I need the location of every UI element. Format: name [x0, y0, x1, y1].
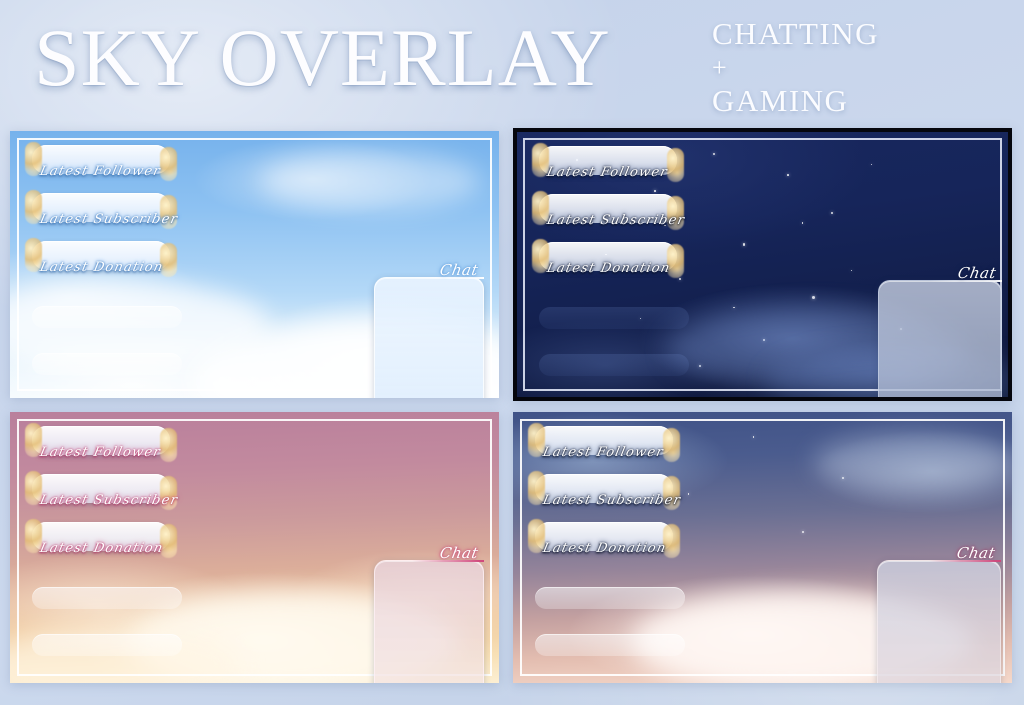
alert-bar-donation[interactable]: Latest Donation: [535, 522, 673, 551]
chat-panel[interactable]: Chat: [877, 560, 1001, 683]
alert-bar-group: Latest Follower Latest Subscriber Latest…: [539, 146, 677, 290]
header: SKY OVERLAY CHATTING + GAMING: [0, 0, 1024, 128]
alert-bar-subscriber[interactable]: Latest Subscriber: [32, 193, 170, 222]
alert-bar-donation[interactable]: Latest Donation: [32, 241, 170, 270]
alert-bar-label: Latest Follower: [38, 164, 191, 179]
chat-panel[interactable]: Chat: [878, 280, 1002, 401]
alert-bar-label: Latest Subscriber: [38, 212, 191, 227]
subtitle-gaming: GAMING: [712, 83, 848, 118]
alert-bar-label: Latest Donation: [38, 260, 191, 275]
alert-bar-subscriber[interactable]: Latest Subscriber: [535, 474, 673, 503]
ghost-frame-bar[interactable]: [32, 306, 182, 328]
alert-bar-donation[interactable]: Latest Donation: [32, 522, 170, 551]
alert-bar-donation[interactable]: Latest Donation: [539, 242, 677, 271]
alert-bar-follower[interactable]: Latest Follower: [32, 145, 170, 174]
ghost-frame-bar[interactable]: [539, 307, 689, 329]
chat-box[interactable]: [877, 560, 1001, 683]
chat-panel[interactable]: Chat: [374, 560, 484, 683]
chat-box[interactable]: [878, 280, 1002, 401]
subtitle-chatting: CHATTING: [712, 16, 879, 51]
overlay-panel-dusk-sky[interactable]: Latest Follower Latest Subscriber Latest…: [513, 412, 1012, 683]
chat-label: Chat: [955, 544, 996, 562]
page-title: SKY OVERLAY: [34, 12, 611, 104]
ghost-frame-bar[interactable]: [539, 354, 689, 376]
ghost-frame-bar[interactable]: [32, 587, 182, 609]
chat-label: Chat: [956, 264, 997, 282]
chat-label: Chat: [438, 261, 479, 279]
chat-box[interactable]: [374, 277, 484, 398]
chat-label: Chat: [438, 544, 479, 562]
alert-bar-subscriber[interactable]: Latest Subscriber: [32, 474, 170, 503]
chat-box[interactable]: [374, 560, 484, 683]
alert-bar-follower[interactable]: Latest Follower: [539, 146, 677, 175]
ghost-frame-bar[interactable]: [32, 353, 182, 375]
alert-bar-group: Latest Follower Latest Subscriber Latest…: [32, 426, 170, 570]
overlay-panel-night-sky[interactable]: Latest Follower Latest Subscriber Latest…: [513, 128, 1012, 401]
overlay-panel-day-sky[interactable]: Latest Follower Latest Subscriber Latest…: [10, 131, 499, 398]
alert-bar-label: Latest Subscriber: [38, 493, 191, 508]
alert-bar-label: Latest Follower: [541, 445, 694, 460]
page-subtitle: CHATTING + GAMING: [712, 16, 922, 119]
ghost-frame-bar[interactable]: [535, 587, 685, 609]
ghost-frame-bar[interactable]: [535, 634, 685, 656]
alert-bar-label: Latest Donation: [38, 541, 191, 556]
alert-bar-follower[interactable]: Latest Follower: [535, 426, 673, 455]
alert-bar-label: Latest Subscriber: [545, 213, 698, 228]
overlay-panel-sunset-sky[interactable]: Latest Follower Latest Subscriber Latest…: [10, 412, 499, 683]
alert-bar-group: Latest Follower Latest Subscriber Latest…: [32, 145, 170, 289]
alert-bar-label: Latest Follower: [38, 445, 191, 460]
overlay-preview-sheet: SKY OVERLAY CHATTING + GAMING Latest Fol…: [0, 0, 1024, 705]
alert-bar-subscriber[interactable]: Latest Subscriber: [539, 194, 677, 223]
alert-bar-label: Latest Donation: [545, 261, 698, 276]
chat-panel[interactable]: Chat: [374, 277, 484, 398]
ghost-frame-bar[interactable]: [32, 634, 182, 656]
alert-bar-label: Latest Follower: [545, 165, 698, 180]
alert-bar-label: Latest Donation: [541, 541, 694, 556]
alert-bar-label: Latest Subscriber: [541, 493, 694, 508]
alert-bar-group: Latest Follower Latest Subscriber Latest…: [535, 426, 673, 570]
subtitle-plus: +: [712, 52, 922, 83]
alert-bar-follower[interactable]: Latest Follower: [32, 426, 170, 455]
